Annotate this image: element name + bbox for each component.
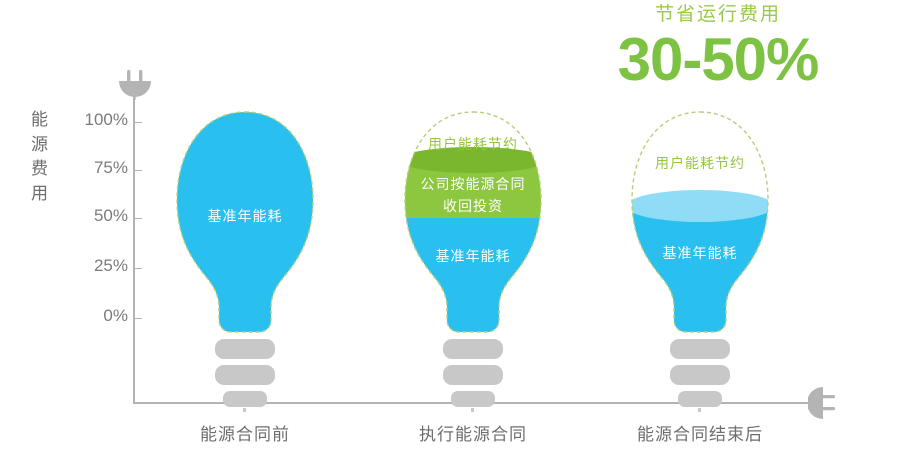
y-axis-line [133, 96, 135, 404]
y-tick-mark-25 [133, 268, 142, 269]
x-axis-label-1: 能源合同前 [155, 420, 335, 445]
bulb-glass-shape-1 [170, 108, 320, 408]
bulb-screw-base-2 [443, 339, 503, 407]
bulb-stem-3 [698, 408, 701, 412]
bulb-screw-base-3 [670, 339, 730, 407]
bulb-glass-shape-3 [625, 108, 775, 408]
bulb-stem-2 [471, 408, 474, 412]
x-axis-label-2: 执行能源合同 [383, 420, 563, 445]
y-tick-mark-75 [133, 170, 142, 171]
power-plug-icon-top [117, 70, 153, 100]
y-tick-mark-100 [133, 122, 142, 123]
y-tick-mark-0 [133, 318, 142, 319]
infographic-canvas: 节省运行费用 30-50% 能源费用 100% 75% 50% 25% 0% 能… [0, 0, 900, 473]
headline-block: 节省运行费用 30-50% [588, 2, 848, 88]
x-axis-label-3: 能源合同结束后 [610, 420, 790, 445]
y-tick-mark-50 [133, 218, 142, 219]
headline-subtitle: 节省运行费用 [588, 2, 848, 29]
bulb-glass-shape-2 [398, 108, 548, 408]
headline-percentage: 30-50% [588, 31, 848, 88]
power-plug-icon-right [808, 384, 848, 422]
bulb-screw-base-1 [215, 339, 275, 407]
bulb-stem-1 [243, 408, 246, 412]
y-axis-title: 能源费用 [28, 108, 52, 207]
